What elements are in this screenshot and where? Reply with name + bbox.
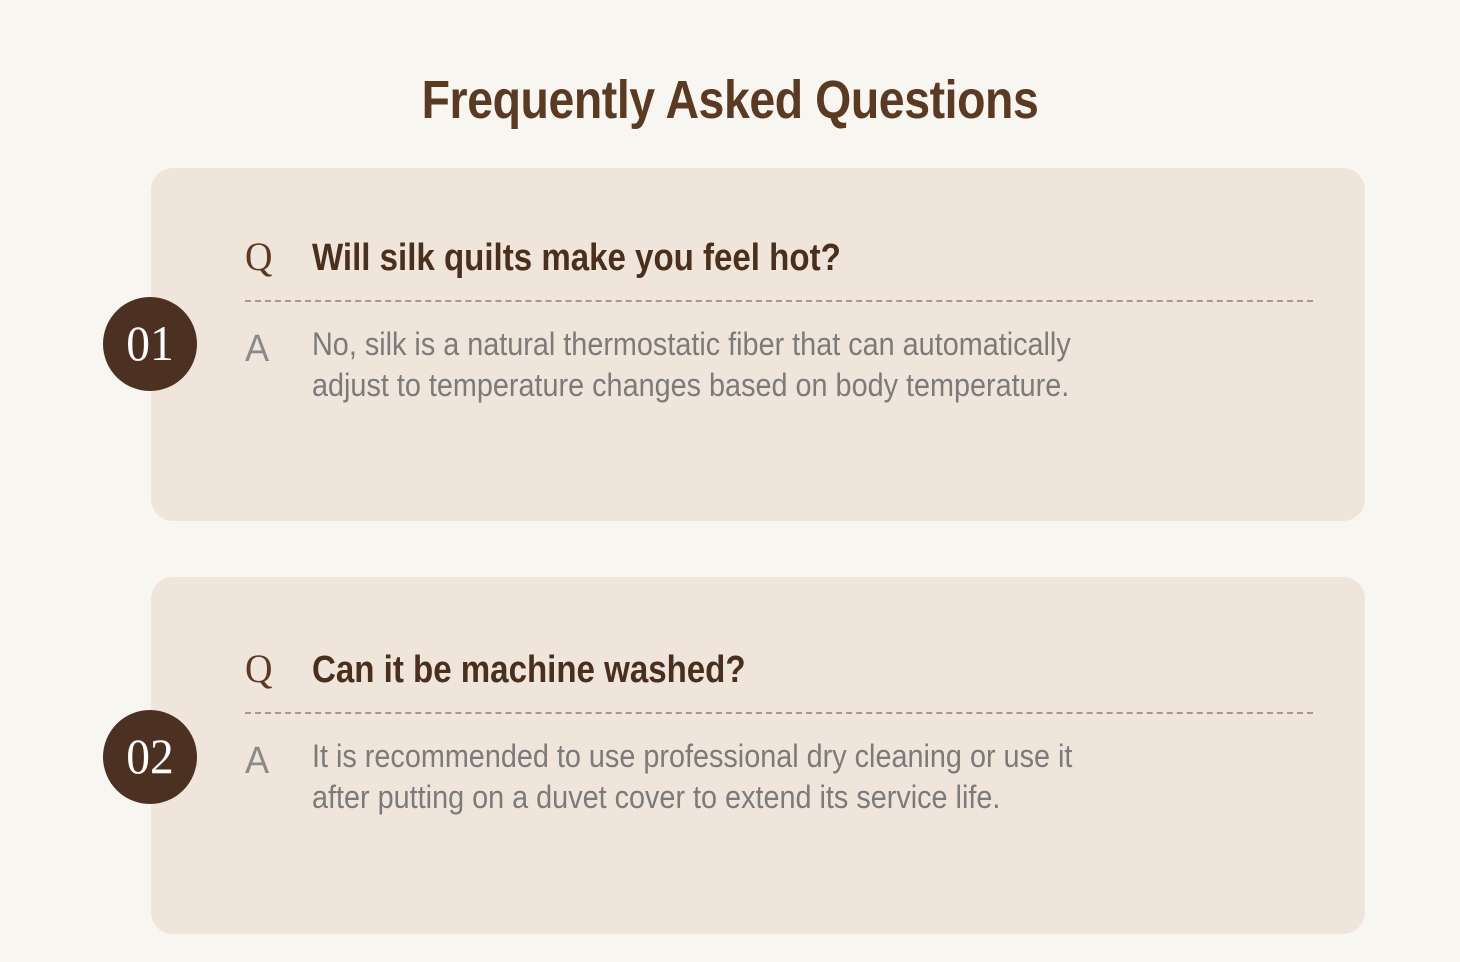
question-marker: Q bbox=[245, 237, 312, 277]
question-marker: Q bbox=[245, 649, 312, 689]
faq-divider bbox=[245, 300, 1313, 302]
answer-marker: A bbox=[245, 324, 312, 371]
faq-divider bbox=[245, 712, 1313, 714]
faq-number-badge: 02 bbox=[103, 710, 197, 804]
answer-marker: A bbox=[245, 736, 312, 783]
question-text: Can it be machine washed? bbox=[312, 648, 746, 692]
faq-number-label: 01 bbox=[126, 318, 174, 368]
question-row: Q Can it be machine washed? bbox=[245, 648, 1315, 692]
faq-page: Frequently Asked Questions 01 Q Will sil… bbox=[0, 0, 1460, 962]
question-row: Q Will silk quilts make you feel hot? bbox=[245, 236, 1315, 280]
answer-row: A It is recommended to use professional … bbox=[245, 736, 1315, 818]
answer-row: A No, silk is a natural thermostatic fib… bbox=[245, 324, 1315, 406]
question-text: Will silk quilts make you feel hot? bbox=[312, 236, 841, 280]
answer-line: after putting on a duvet cover to extend… bbox=[312, 777, 1215, 818]
answer-text: It is recommended to use professional dr… bbox=[312, 736, 1215, 818]
answer-text: No, silk is a natural thermostatic fiber… bbox=[312, 324, 1215, 406]
page-title: Frequently Asked Questions bbox=[102, 69, 1358, 131]
faq-number-badge: 01 bbox=[103, 297, 197, 391]
faq-content: Q Can it be machine washed? A It is reco… bbox=[245, 648, 1315, 818]
answer-line: adjust to temperature changes based on b… bbox=[312, 365, 1215, 406]
answer-line: No, silk is a natural thermostatic fiber… bbox=[312, 324, 1215, 365]
faq-number-label: 02 bbox=[126, 731, 174, 781]
answer-line: It is recommended to use professional dr… bbox=[312, 736, 1215, 777]
faq-content: Q Will silk quilts make you feel hot? A … bbox=[245, 236, 1315, 406]
